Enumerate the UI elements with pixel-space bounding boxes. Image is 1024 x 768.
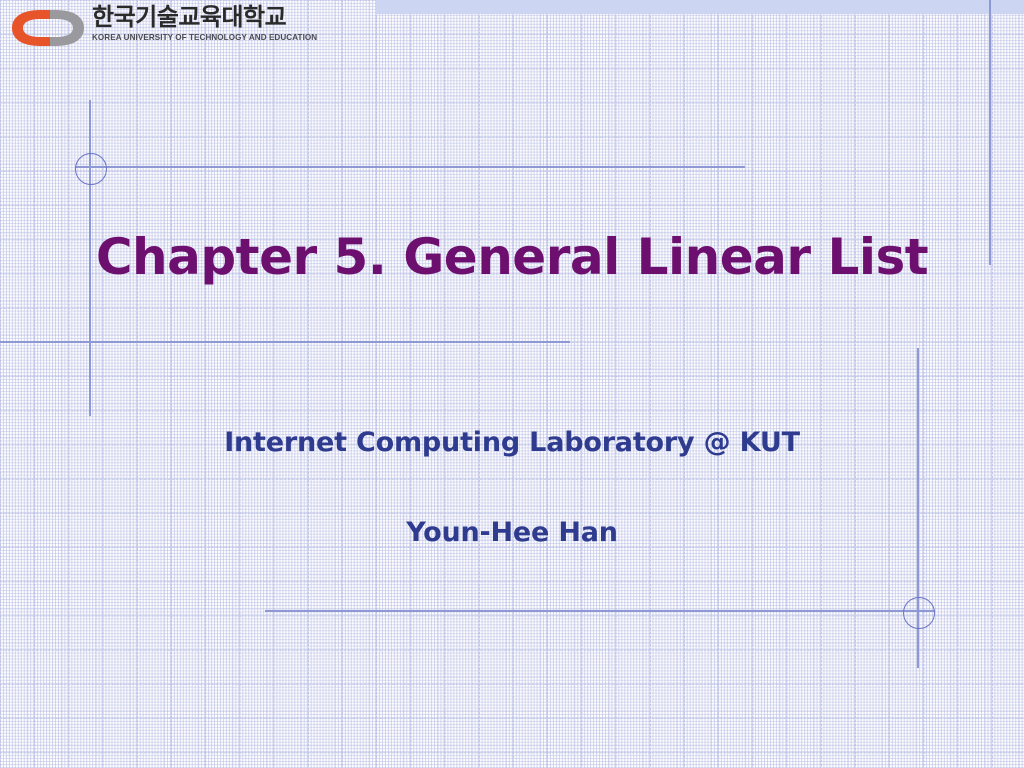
presentation-slide: 한국기술교육대학교 KOREA UNIVERSITY OF TECHNOLOGY… [0,0,1024,768]
university-name-english: KOREA UNIVERSITY OF TECHNOLOGY AND EDUCA… [92,32,301,43]
deco-circle-upper-left [75,153,107,185]
background-grid-vertical-lines [0,0,1024,768]
slide-title: Chapter 5. General Linear List [0,228,1024,286]
slide-subtitle: Internet Computing Laboratory @ KUT [0,427,1024,458]
deco-horizontal-line-upper [75,166,745,168]
slide-author: Youn-Hee Han [0,517,1024,548]
deco-vertical-line-upper-right [989,0,991,265]
deco-horizontal-line-mid [0,341,570,343]
deco-circle-lower-right [903,597,935,629]
top-accent-band [376,0,1024,14]
background-grid-horizontal-lines [0,0,1024,768]
background-grid [0,0,1024,768]
university-logo: 한국기술교육대학교 KOREA UNIVERSITY OF TECHNOLOGY… [8,2,308,54]
university-logo-text: 한국기술교육대학교 KOREA UNIVERSITY OF TECHNOLOGY… [92,2,312,43]
university-name-korean: 한국기술교육대학교 [92,2,312,32]
kut-emblem-icon [10,8,88,48]
deco-horizontal-line-lower [265,610,935,612]
